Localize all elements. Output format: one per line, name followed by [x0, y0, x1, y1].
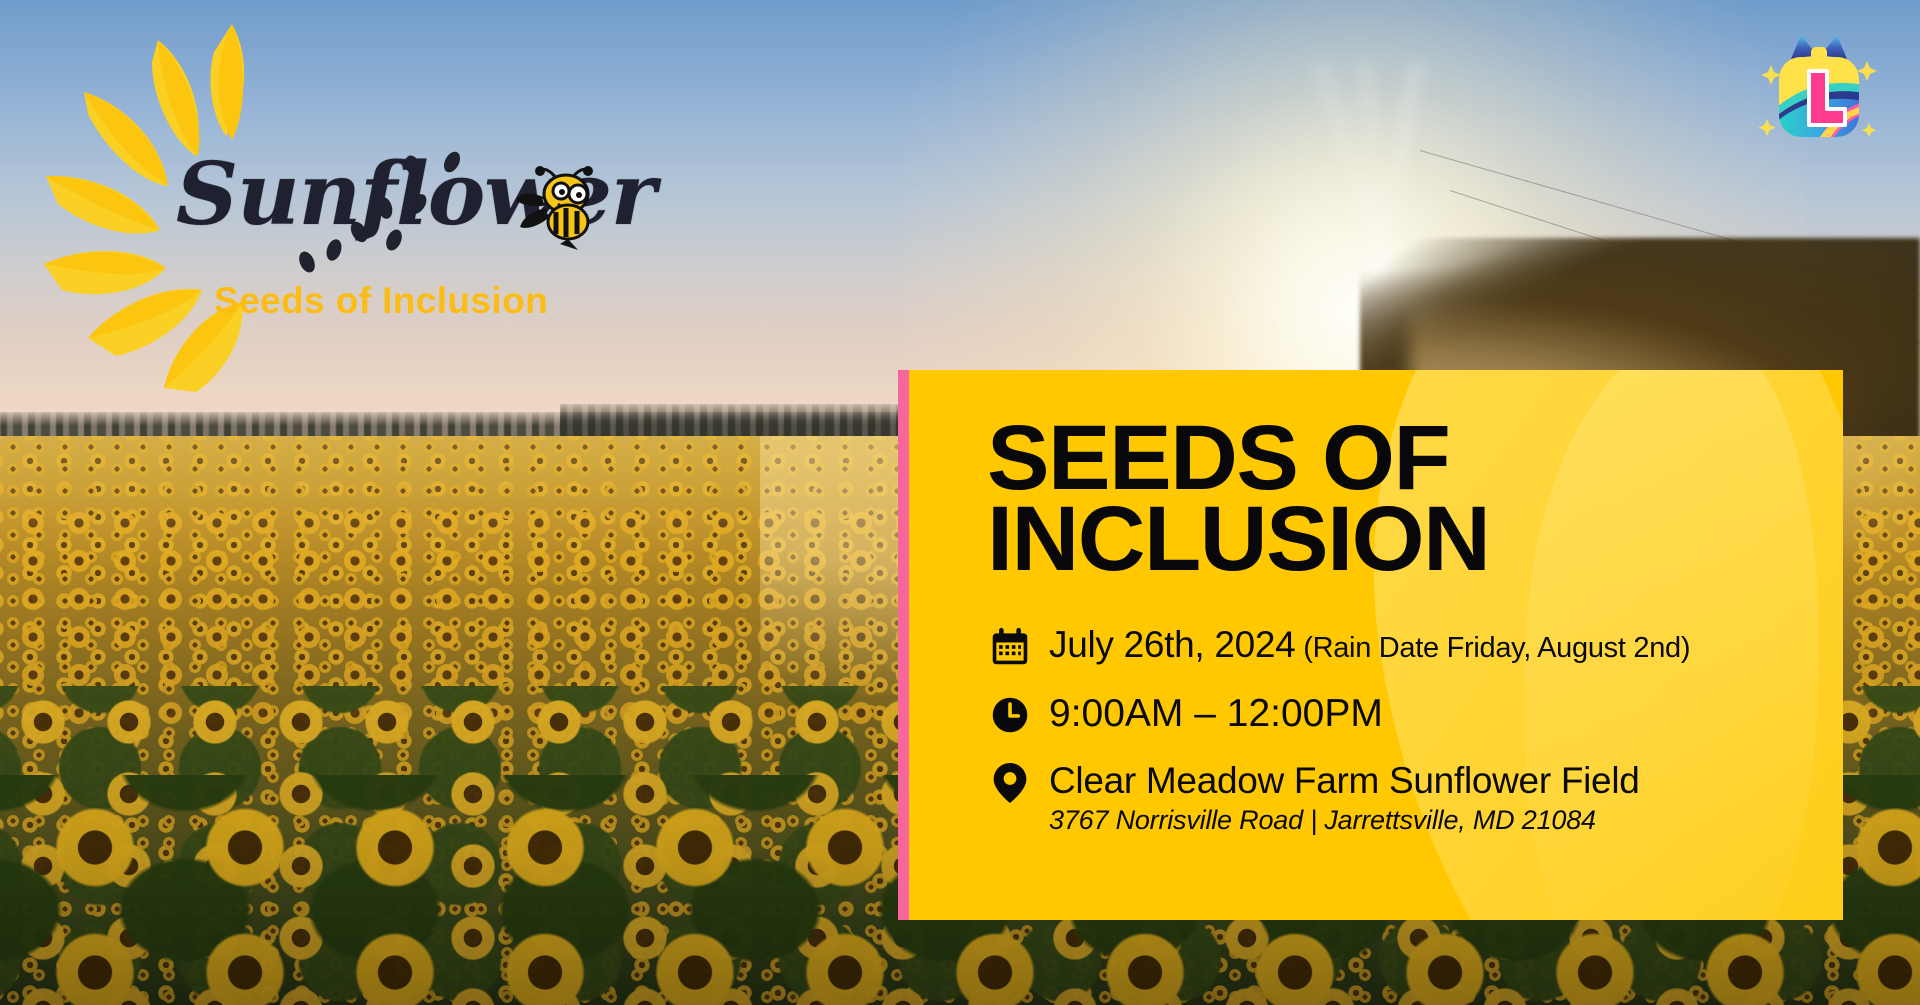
event-date: July 26th, 2024	[1049, 624, 1295, 665]
event-details-list: July 26th, 2024 (Rain Date Friday, Augus…	[987, 624, 1843, 836]
card-title: SEEDS OF INCLUSION	[987, 418, 1843, 580]
detail-row-location: Clear Meadow Farm Sunflower Field 3767 N…	[987, 760, 1843, 836]
event-rain-date: (Rain Date Friday, August 2nd)	[1295, 632, 1690, 664]
event-banner: Sunflower Seeds of Inclusion	[0, 0, 1920, 1005]
event-info-card: SEEDS OF INCLUSION	[909, 370, 1843, 920]
sunflower-logo: Sunflower Seeds of Inclusion	[36, 16, 636, 396]
event-venue: Clear Meadow Farm Sunflower Field	[1049, 762, 1640, 801]
clock-icon	[987, 692, 1033, 738]
bee-icon	[516, 164, 616, 250]
logo-subtitle-text: Seeds of Inclusion	[214, 280, 548, 322]
detail-row-date: July 26th, 2024 (Rain Date Friday, Augus…	[987, 624, 1843, 670]
calendar-icon	[987, 624, 1033, 670]
event-time: 9:00AM – 12:00PM	[1049, 694, 1383, 735]
card-accent-stripe	[898, 370, 909, 920]
event-address: 3767 Norrisville Road | Jarrettsville, M…	[1049, 805, 1640, 836]
app-logo-badge[interactable]	[1757, 25, 1881, 149]
location-pin-icon	[987, 760, 1033, 806]
detail-row-time: 9:00AM – 12:00PM	[987, 692, 1843, 738]
